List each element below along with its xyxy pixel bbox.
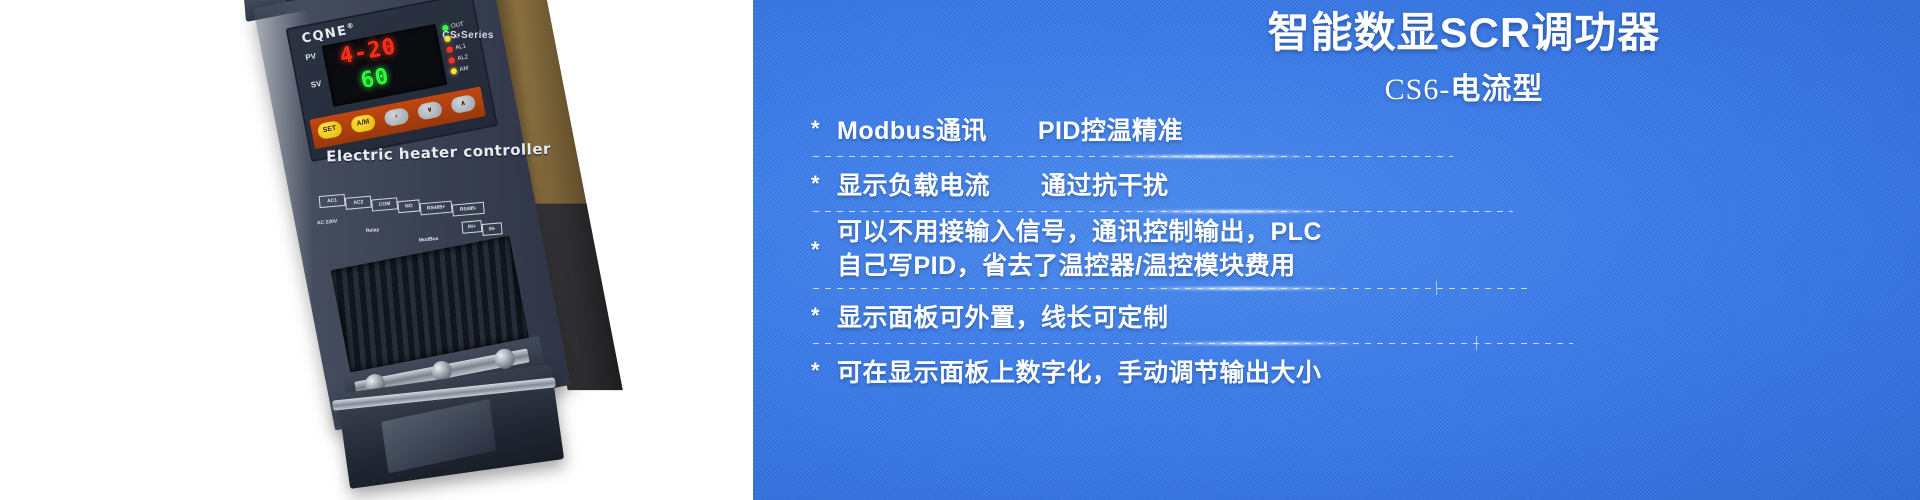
down-key[interactable]: ∨ xyxy=(417,100,444,120)
label-modbus: ModBus xyxy=(419,236,439,244)
series-label: CS-Series xyxy=(442,30,494,41)
model-prefix: CS6- xyxy=(1385,73,1451,106)
label-relay: Relay xyxy=(366,227,380,234)
feature-item-2: * 显示负载电流 通过抗干扰 xyxy=(803,161,1903,207)
divider-glow xyxy=(1137,287,1347,290)
feature-text-2: 显示负载电流 通过抗干扰 xyxy=(837,166,1169,202)
feature-item-5: * 可在显示面板上数字化，手动调节输出大小 xyxy=(803,348,1903,394)
set-key[interactable]: SET xyxy=(316,120,343,140)
status-led-group: OUT AT AL1 AL2 AM xyxy=(441,19,473,77)
drawer-plate xyxy=(381,399,496,473)
led-out-label: OUT xyxy=(451,21,465,29)
bullet-star-icon: * xyxy=(811,118,837,140)
bullet-star-icon: * xyxy=(811,360,837,382)
feature-text-3: 可以不用接输入信号，通讯控制输出，PLC自己写PID，省去了温控器/温控模块费用 xyxy=(837,216,1322,284)
terminal-ac1: AC1 xyxy=(319,194,346,208)
feature-text-1: Modbus通讯 PID控温精准 xyxy=(837,111,1183,147)
scr-power-regulator-device: CQNE® PV SV 4-20 60 OUT AT AL1 AL2 AM SE… xyxy=(253,0,647,500)
feature-text-3-line-1: 可以不用接输入信号，通讯控制输出，PLC xyxy=(837,218,1322,246)
led-al1-label: AL1 xyxy=(455,43,467,51)
terminal-ac2: AC2 xyxy=(345,196,372,210)
feature-item-1: * Modbus通讯 PID控温精准 xyxy=(803,106,1903,152)
led-am-label: AM xyxy=(459,65,469,73)
page-title: 智能数显SCR调功器 xyxy=(753,10,1920,56)
terminal-rs485-b: RS485- xyxy=(452,202,485,217)
divider-glow xyxy=(1128,210,1338,213)
feature-item-4: * 显示面板可外置，线长可定制 xyxy=(803,293,1903,339)
terminal-in-negative: IN- xyxy=(482,222,503,236)
headline-block: 智能数显SCR调功器 CS6-电流型 xyxy=(753,10,1920,108)
terminal-rs485-a: RS485+ xyxy=(420,201,453,216)
shift-key[interactable]: ‹ xyxy=(383,107,410,127)
bullet-star-icon: * xyxy=(811,173,837,195)
up-key[interactable]: ∧ xyxy=(450,94,477,114)
led-al1-icon xyxy=(446,46,453,53)
divider-glow xyxy=(1155,342,1365,345)
feature-divider-1 xyxy=(813,156,1453,157)
led-am-icon xyxy=(450,67,457,74)
led-al2-icon xyxy=(448,56,455,63)
label-ac-supply: AC 220V xyxy=(317,219,338,227)
pv-label: PV xyxy=(305,51,317,62)
led-al2-label: AL2 xyxy=(457,54,469,62)
feature-divider-2 xyxy=(813,211,1513,212)
feature-divider-4 xyxy=(813,343,1573,344)
product-banner: CQNE® PV SV 4-20 60 OUT AT AL1 AL2 AM SE… xyxy=(0,0,1920,500)
bullet-star-icon: * xyxy=(811,239,837,261)
feature-text-4: 显示面板可外置，线长可定制 xyxy=(837,298,1169,334)
feature-text-3-line-2: 自己写PID，省去了温控器/温控模块费用 xyxy=(837,252,1296,280)
sv-label: SV xyxy=(310,79,322,90)
divider-glow xyxy=(1101,155,1311,158)
terminal-no: NO xyxy=(397,199,420,213)
feature-list: * Modbus通讯 PID控温精准 * 显示负载电流 通过抗干扰 * 可以不用… xyxy=(803,106,1903,394)
terminal-in-positive: IN+ xyxy=(461,220,482,234)
model-suffix: 电流型 xyxy=(1450,73,1543,106)
feature-text-5: 可在显示面板上数字化，手动调节输出大小 xyxy=(837,353,1322,389)
bullet-star-icon: * xyxy=(811,305,837,327)
product-photo-panel: CQNE® PV SV 4-20 60 OUT AT AL1 AL2 AM SE… xyxy=(0,0,753,500)
sv-value-readout: 60 xyxy=(359,64,392,94)
feature-divider-3 xyxy=(813,288,1533,289)
control-panel: CQNE® PV SV 4-20 60 OUT AT AL1 AL2 AM SE… xyxy=(286,0,498,162)
marketing-panel: 智能数显SCR调功器 CS6-电流型 * Modbus通讯 PID控温精准 * … xyxy=(753,0,1920,500)
auto-manual-key[interactable]: A/M xyxy=(350,113,377,133)
terminal-com: COM xyxy=(371,197,398,211)
registered-mark-icon: ® xyxy=(346,21,356,30)
feature-item-3: * 可以不用接输入信号，通讯控制输出，PLC自己写PID，省去了温控器/温控模块… xyxy=(803,216,1903,284)
model-subtitle: CS6-电流型 xyxy=(753,64,1920,108)
